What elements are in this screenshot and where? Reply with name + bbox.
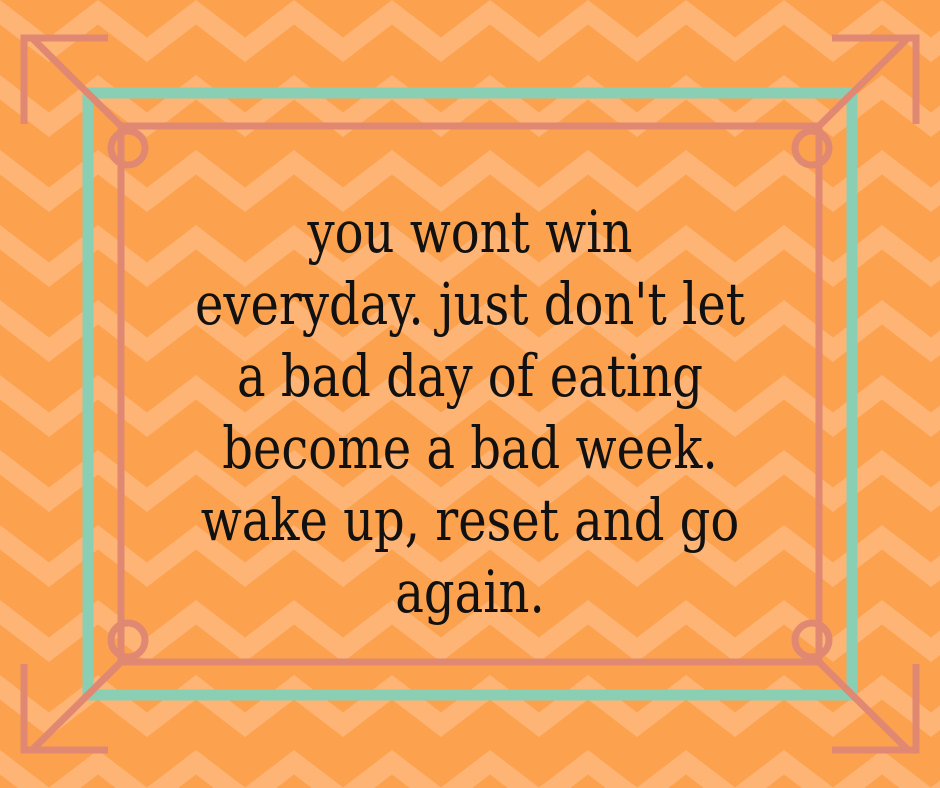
quote-line: become a bad week. xyxy=(176,412,765,484)
quote-line: a bad day of eating xyxy=(176,340,765,412)
quote-text-block: you wont win everyday. just don't let a … xyxy=(0,196,940,628)
quote-line: wake up, reset and go xyxy=(176,484,765,556)
quote-line: again. xyxy=(176,556,765,628)
quote-poster: you wont win everyday. just don't let a … xyxy=(0,0,940,788)
quote-line: everyday. just don't let xyxy=(176,268,765,340)
quote-line: you wont win xyxy=(176,196,765,268)
